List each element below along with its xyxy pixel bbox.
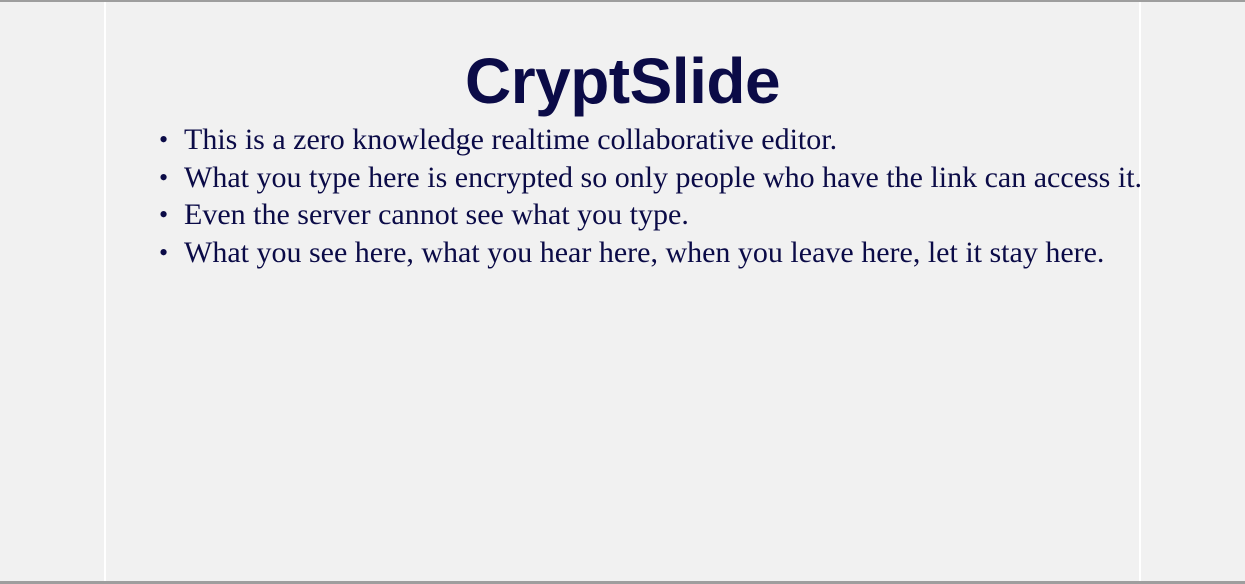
bullet-point-icon: • [159,196,179,234]
left-gutter [0,2,104,581]
bullet-item[interactable]: • This is a zero knowledge realtime coll… [184,121,1174,159]
bullet-item-text: Even the server cannot see what you type… [184,196,1174,234]
bullet-item-text: What you see here, what you hear here, w… [184,234,1174,272]
bullet-item[interactable]: • Even the server cannot see what you ty… [184,196,1174,234]
bullet-item[interactable]: • What you type here is encrypted so onl… [184,159,1174,197]
bullet-point-icon: • [159,234,179,272]
slide-viewer: CryptSlide • This is a zero knowledge re… [0,0,1245,584]
bullet-point-icon: • [159,121,179,159]
bullet-point-icon: • [159,159,179,197]
bullet-item-text: This is a zero knowledge realtime collab… [184,121,1174,159]
slide-right-divider [1139,2,1141,581]
slide-canvas[interactable]: CryptSlide • This is a zero knowledge re… [106,2,1139,581]
right-gutter [1141,2,1245,581]
slide-title[interactable]: CryptSlide [106,45,1139,117]
bullet-item-text: What you type here is encrypted so only … [184,159,1174,197]
slide-bullet-list[interactable]: • This is a zero knowledge realtime coll… [146,121,1174,271]
bullet-item[interactable]: • What you see here, what you hear here,… [184,234,1174,272]
